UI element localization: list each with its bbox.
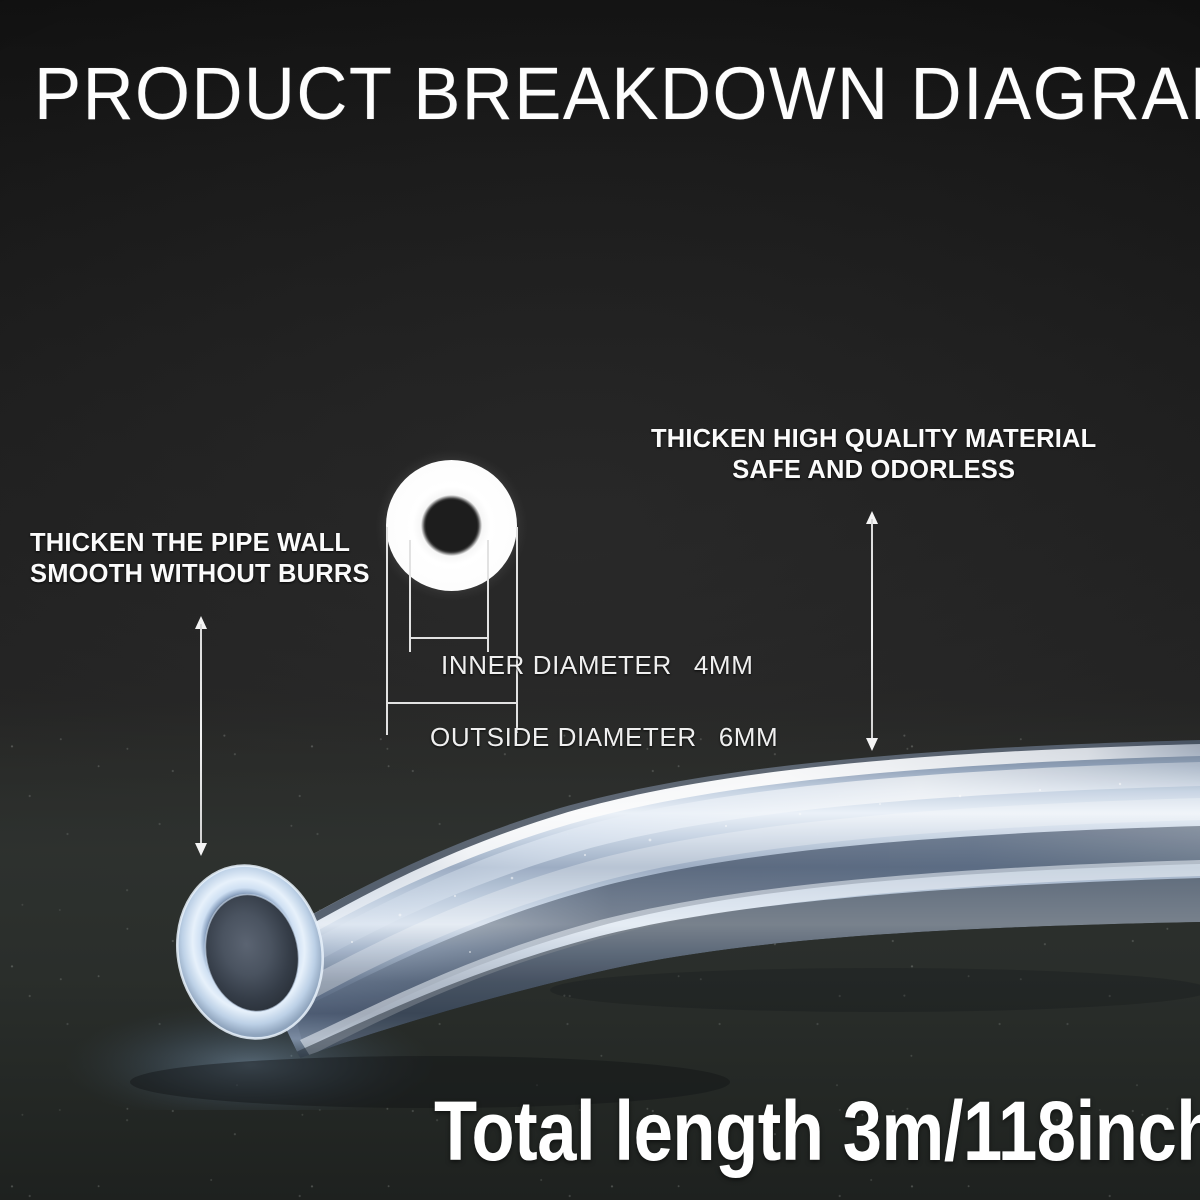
callout-left-line-2: SMOOTH WITHOUT BURRS [30,560,370,588]
infographic-canvas: PRODUCT BREAKDOWN DIAGRAM THICKEN THE PI… [0,0,1200,1200]
callout-right-material: THICKEN HIGH QUALITY MATERIAL SAFE AND O… [651,424,1096,486]
outside-diameter-label: OUTSIDE DIAMETER6MM [430,722,778,753]
outside-diameter-value: 6MM [719,722,779,752]
outside-diameter-tick [386,702,518,704]
outside-diameter-label-text: OUTSIDE DIAMETER [430,722,697,752]
inner-diameter-leader-right [487,540,489,652]
outside-diameter-leader-left [386,527,388,735]
arrow-shaft [200,624,202,848]
callout-right-line-2: SAFE AND ODORLESS [651,455,1096,486]
callout-left-line-1: THICKEN THE PIPE WALL [30,529,350,557]
arrow-shaft [871,519,873,743]
callout-left-pipe-wall: THICKEN THE PIPE WALL SMOOTH WITHOUT BUR… [30,528,370,590]
inner-diameter-tick [409,637,489,639]
page-title: PRODUCT BREAKDOWN DIAGRAM [34,55,1200,133]
inner-diameter-leader-left [409,540,411,652]
wall-thickness-arrow-icon [194,616,208,856]
hose-photo [0,690,1200,1110]
tube-cross-section-ring [386,460,517,591]
arrow-head-down-icon [195,843,207,856]
total-length-caption: Total length 3m/118inch [434,1088,1200,1174]
material-thickness-arrow-icon [865,511,879,751]
inner-diameter-label: INNER DIAMETER4MM [441,650,753,681]
callout-right-line-1: THICKEN HIGH QUALITY MATERIAL [651,425,1096,453]
inner-diameter-label-text: INNER DIAMETER [441,650,672,680]
arrow-head-down-icon [866,738,878,751]
inner-diameter-value: 4MM [694,650,754,680]
